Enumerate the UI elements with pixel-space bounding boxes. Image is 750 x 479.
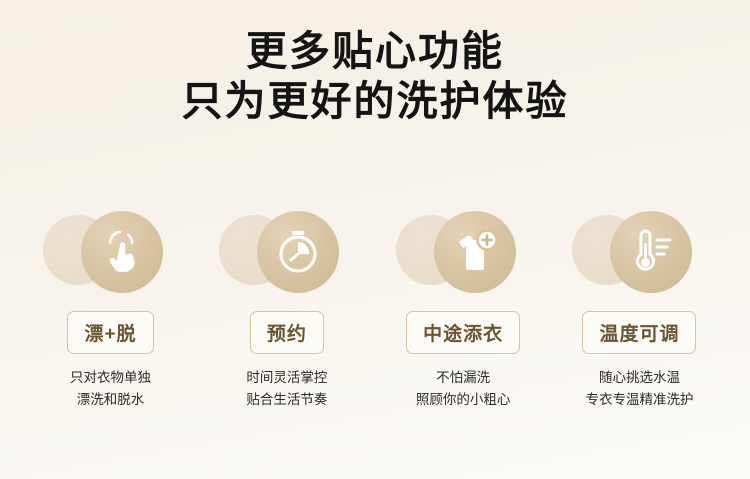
feature-icon-wrap xyxy=(572,205,707,305)
feature-desc: 随心挑选水温 专衣专温精准洗护 xyxy=(585,367,693,411)
feature-tag: 预约 xyxy=(250,311,324,354)
page-title: 更多贴心功能 只为更好的洗护体验 xyxy=(0,26,750,126)
feature-desc-line-2: 贴合生活节奏 xyxy=(246,389,327,411)
feature-desc-line-2: 专衣专温精准洗护 xyxy=(585,389,693,411)
feature-item: 漂+脱 只对衣物单独 漂洗和脱水 xyxy=(28,205,193,411)
feature-desc-line-1: 只对衣物单独 xyxy=(70,367,151,389)
headline-line-2: 只为更好的洗护体验 xyxy=(0,76,750,126)
feature-desc: 只对衣物单独 漂洗和脱水 xyxy=(70,367,151,411)
headline-line-1: 更多贴心功能 xyxy=(0,26,750,76)
feature-tag: 温度可调 xyxy=(582,311,696,354)
feature-item: 中途添衣 不怕漏洗 照顾你的小粗心 xyxy=(381,205,546,411)
feature-icon-wrap xyxy=(396,205,531,305)
timer-clock-icon xyxy=(257,211,339,293)
feature-desc: 时间灵活掌控 贴合生活节奏 xyxy=(246,367,327,411)
feature-desc-line-1: 随心挑选水温 xyxy=(585,367,693,389)
feature-icon-wrap xyxy=(219,205,354,305)
feature-desc: 不怕漏洗 照顾你的小粗心 xyxy=(416,367,511,411)
feature-item: 预约 时间灵活掌控 贴合生活节奏 xyxy=(204,205,369,411)
feature-desc-line-2: 照顾你的小粗心 xyxy=(416,389,511,411)
feature-icon-wrap xyxy=(43,205,178,305)
thermometer-icon xyxy=(610,211,692,293)
hand-touch-icon xyxy=(81,211,163,293)
feature-tag: 中途添衣 xyxy=(406,311,520,354)
promo-page: 更多贴心功能 只为更好的洗护体验 漂+脱 只对衣物单独 漂洗和脱水 xyxy=(0,0,750,479)
feature-list: 漂+脱 只对衣物单独 漂洗和脱水 预约 xyxy=(0,205,750,411)
feature-desc-line-1: 不怕漏洗 xyxy=(416,367,511,389)
feature-tag: 漂+脱 xyxy=(67,311,153,354)
feature-item: 温度可调 随心挑选水温 专衣专温精准洗护 xyxy=(557,205,722,411)
add-clothes-icon xyxy=(434,211,516,293)
feature-desc-line-1: 时间灵活掌控 xyxy=(246,367,327,389)
feature-desc-line-2: 漂洗和脱水 xyxy=(70,389,151,411)
